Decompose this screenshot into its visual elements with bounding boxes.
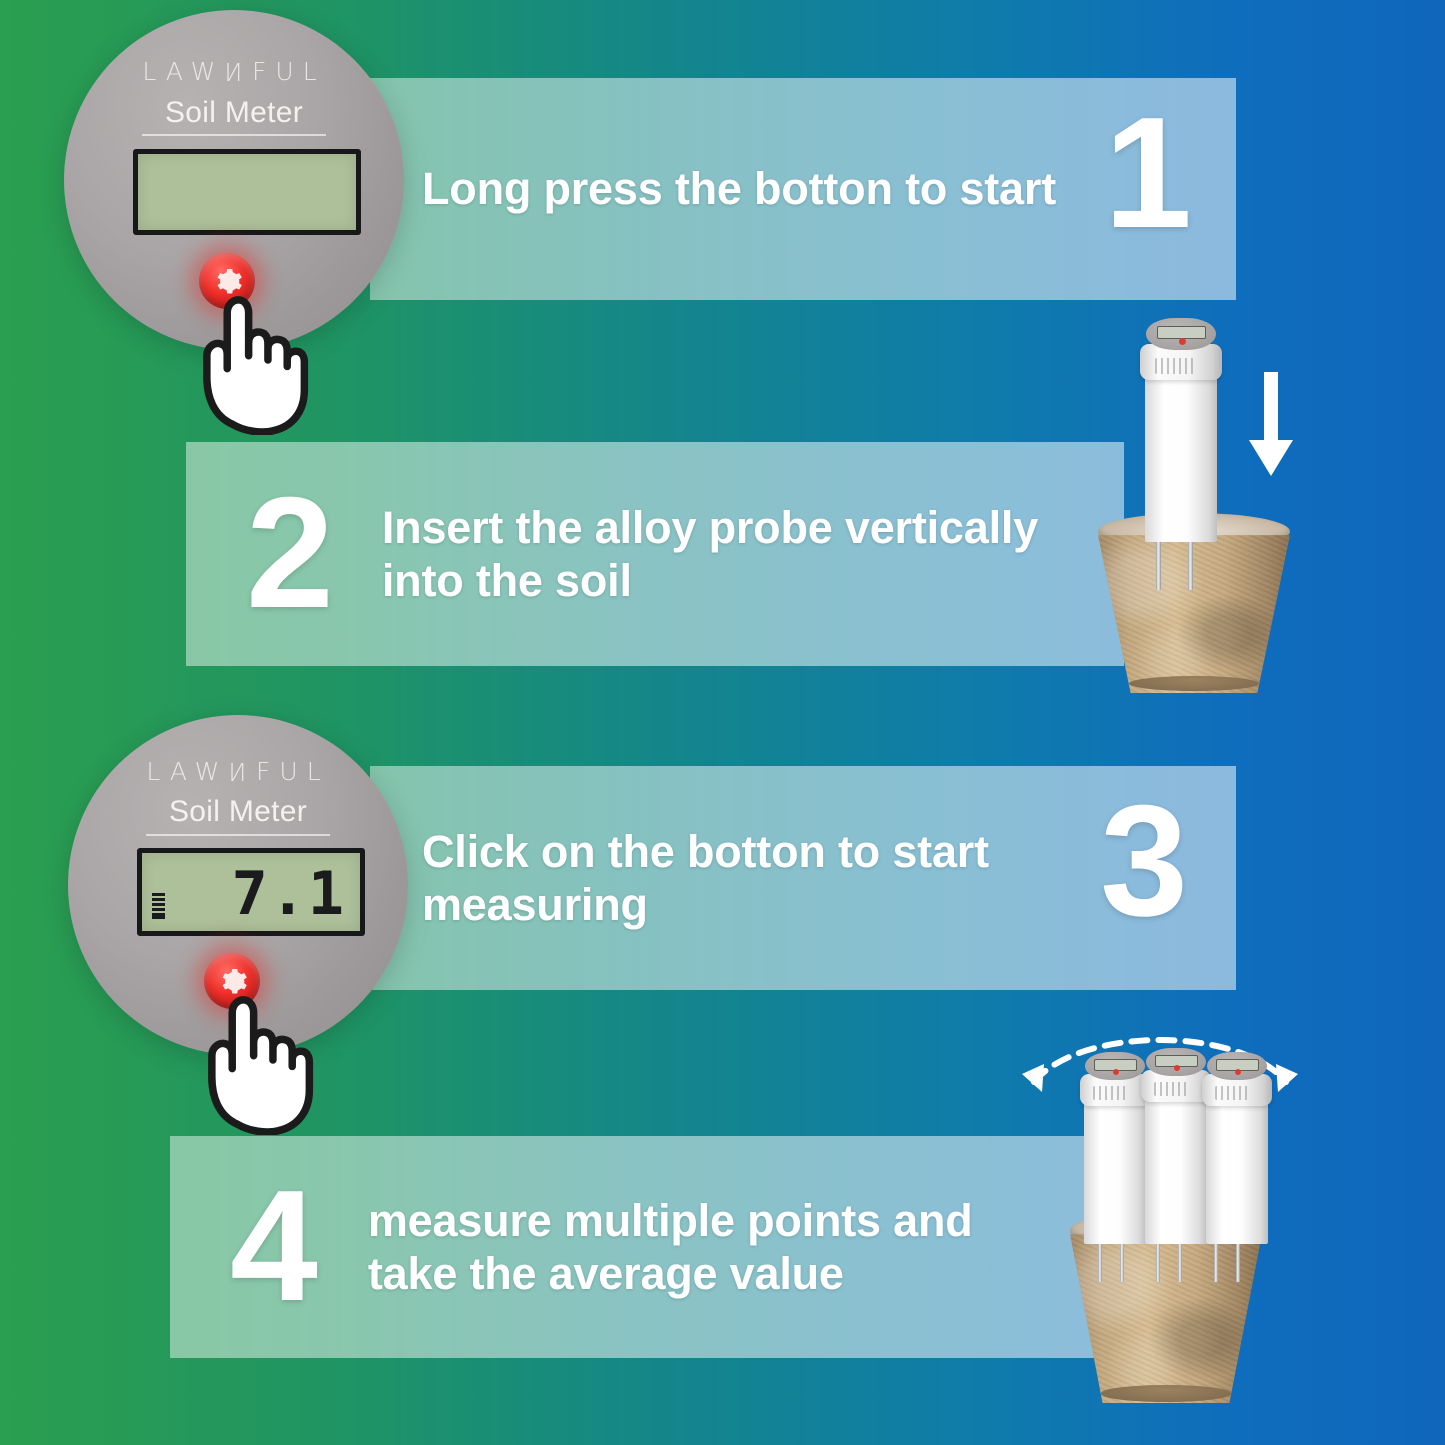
device-divider <box>146 834 330 836</box>
device-lcd-display <box>133 149 361 235</box>
probe-cap-ridges <box>1093 1086 1128 1100</box>
probe-power-button[interactable] <box>1179 338 1186 345</box>
step-2-number: 2 <box>246 486 334 622</box>
step-4-text: measure multiple points and take the ave… <box>368 1194 973 1300</box>
down-arrow-icon <box>1245 372 1297 480</box>
soil-meter-probe-3 <box>1206 1052 1268 1244</box>
pot-base <box>1101 1385 1232 1401</box>
step-1-number: 1 <box>1104 106 1192 242</box>
soil-meter-probe-1 <box>1084 1052 1146 1244</box>
probe-tube <box>1145 1090 1207 1244</box>
step-banner-2: 2 Insert the alloy probe vertically into… <box>186 442 1124 666</box>
infographic-canvas: Long press the botton to start 1 2 Inser… <box>0 0 1445 1445</box>
three-probes-in-pot-illustration <box>1000 1020 1320 1420</box>
soil-meter-probe <box>1145 318 1217 540</box>
hand-pointer-icon <box>194 985 324 1135</box>
device-model-label: Soil Meter <box>64 96 404 130</box>
device-lcd-display: 7.1 <box>137 848 365 936</box>
step-3-text: Click on the botton to start measuring <box>422 825 989 931</box>
step-1-text: Long press the botton to start <box>422 162 1056 215</box>
hand-pointer-icon <box>189 285 319 435</box>
soil-meter-probe-2 <box>1145 1048 1207 1244</box>
probe-tube <box>1145 366 1217 542</box>
device-brand-label: LAWNFUL <box>64 57 404 86</box>
step-4-number: 4 <box>230 1179 318 1315</box>
probe-tube <box>1084 1094 1146 1244</box>
device-model-label: Soil Meter <box>68 795 408 829</box>
probe-cap-ridges <box>1154 1082 1189 1096</box>
probe-tube <box>1206 1094 1268 1244</box>
soil-meter-device-step3: LAWNFUL Soil Meter 7.1 <box>68 715 408 1055</box>
step-3-number: 3 <box>1100 794 1188 930</box>
device-divider <box>142 134 326 136</box>
step-banner-3: Click on the botton to start measuring 3 <box>370 766 1236 990</box>
battery-level-icon <box>152 893 165 919</box>
device-brand-label: LAWNFUL <box>68 757 408 786</box>
probe-in-pot-illustration <box>1090 312 1320 697</box>
step-banner-4: 4 measure multiple points and take the a… <box>170 1136 1128 1358</box>
step-banner-1: Long press the botton to start 1 <box>370 78 1236 300</box>
soil-meter-device-step1: LAWNFUL Soil Meter <box>64 10 404 350</box>
probe-cap-ridges <box>1215 1086 1250 1100</box>
probe-cap-ridges <box>1155 358 1195 374</box>
step-2-text: Insert the alloy probe vertically into t… <box>382 501 1038 607</box>
lcd-reading: 7.1 <box>232 859 346 929</box>
